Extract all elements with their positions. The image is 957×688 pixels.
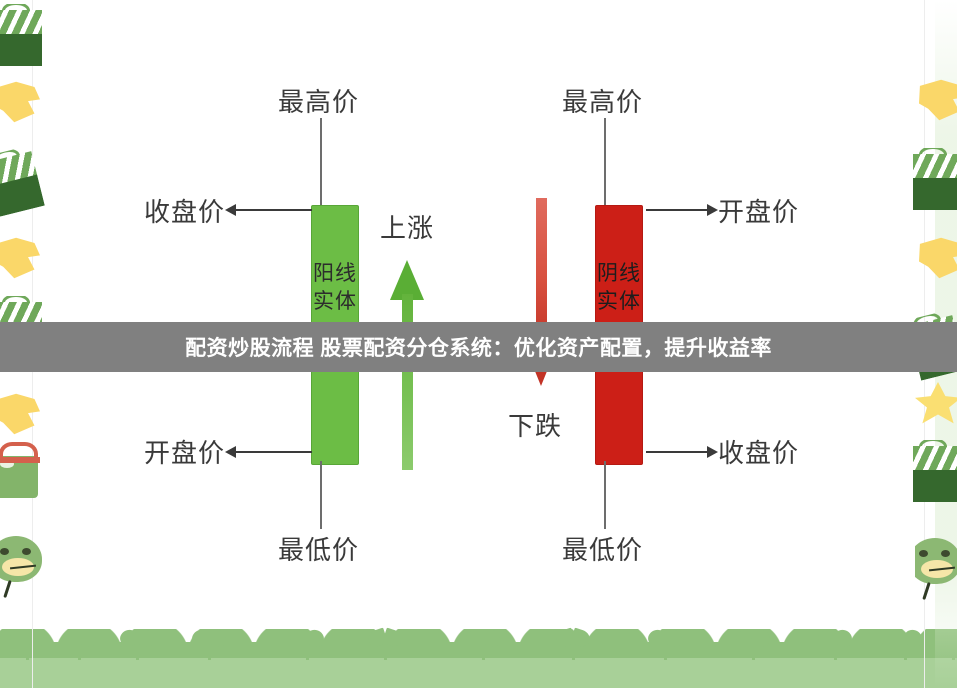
candlestick-diagram: 阳线实体 最高价 最低价 收盘价 开盘价 上涨 阴线实体 [46, 0, 911, 614]
gift-box-icon [913, 440, 957, 502]
bearish-body-label: 阴线实体 [596, 260, 642, 315]
bullish-open-label: 开盘价 [144, 433, 225, 470]
page-title: 配资炒股流程 股票配资分仓系统：优化资产配置，提升收益率 [185, 332, 772, 362]
bullish-low-leader [320, 505, 322, 529]
bullish-trend-label: 上涨 [380, 208, 434, 245]
sprout-icon [556, 626, 590, 660]
sprout-icon [290, 626, 324, 660]
gift-box-icon [913, 148, 957, 210]
bullish-close-leader [236, 209, 312, 211]
gold-flag-icon [0, 232, 40, 284]
gold-flag-icon [919, 74, 957, 126]
bearish-trend-label: 下跌 [508, 406, 562, 443]
frog-character-icon [0, 530, 42, 602]
frog-character-icon [915, 532, 957, 604]
bullish-open-leader [236, 451, 312, 453]
gift-box-ribbon-icon [0, 440, 40, 498]
sprout-icon [736, 626, 770, 660]
bearish-open-label: 开盘价 [718, 192, 799, 229]
bearish-open-leader [646, 209, 708, 211]
bearish-open-arrow-icon [707, 204, 718, 216]
bullish-upper-wick [320, 140, 322, 207]
gold-star-icon [915, 378, 957, 430]
bullish-open-arrow-icon [225, 446, 236, 458]
bullish-high-label: 最高价 [278, 82, 359, 119]
bearish-upper-wick [604, 140, 606, 207]
bullish-close-label: 收盘价 [144, 192, 225, 229]
bearish-high-label: 最高价 [562, 82, 643, 119]
sprout-icon [648, 626, 682, 660]
screenshot-root: 阳线实体 最高价 最低价 收盘价 开盘价 上涨 阴线实体 [0, 0, 957, 688]
bearish-low-leader [604, 505, 606, 529]
sprout-icon [466, 626, 500, 660]
bearish-high-leader [604, 118, 606, 142]
bearish-close-arrow-icon [707, 446, 718, 458]
gold-flag-icon [919, 232, 957, 284]
bullish-high-leader [320, 118, 322, 142]
sprout-icon [62, 626, 96, 660]
bearish-close-label: 收盘价 [718, 433, 799, 470]
sprout-icon [192, 626, 226, 660]
gold-flag-icon [0, 388, 40, 440]
bearish-close-leader [646, 451, 708, 453]
bullish-close-arrow-icon [225, 204, 236, 216]
sprout-icon [368, 626, 402, 660]
gift-box-icon [0, 4, 42, 66]
gold-flag-icon [0, 76, 40, 128]
grass-decoration [0, 614, 957, 688]
bearish-low-label: 最低价 [562, 530, 643, 567]
bullish-low-label: 最低价 [278, 530, 359, 567]
gift-box-icon [0, 145, 45, 216]
title-overlay-bar: 配资炒股流程 股票配资分仓系统：优化资产配置，提升收益率 [0, 322, 957, 372]
sprout-icon [120, 626, 154, 660]
bullish-body-label: 阳线实体 [312, 260, 358, 315]
sprout-icon [818, 626, 852, 660]
